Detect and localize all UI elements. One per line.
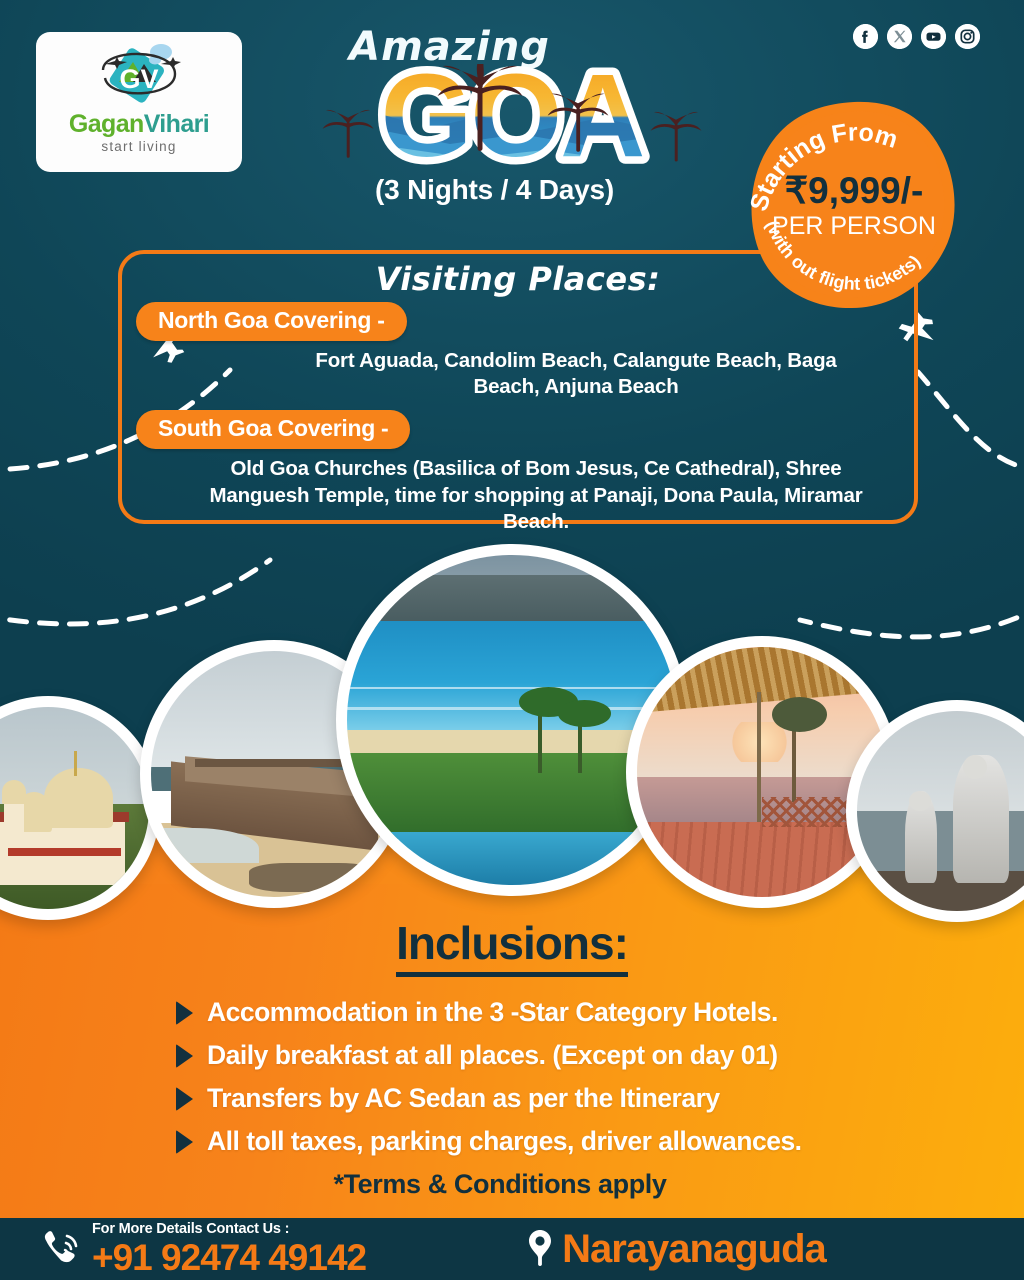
bullet-arrow-icon: [176, 1087, 193, 1111]
inclusion-text: Transfers by AC Sedan as per the Itinera…: [207, 1083, 720, 1114]
logo-word-vihari: Vihari: [144, 110, 209, 138]
contact-block[interactable]: For More Details Contact Us : +91 92474 …: [0, 1222, 366, 1276]
list-item: Accommodation in the 3 -Star Category Ho…: [176, 997, 1024, 1028]
north-goa-places: Fort Aguada, Candolim Beach, Calangute B…: [122, 341, 914, 400]
photo-mangueshi-temple: [0, 696, 160, 920]
north-goa-label: North Goa Covering -: [136, 302, 407, 341]
inclusions-section: Inclusions: Accommodation in the 3 -Star…: [0, 916, 1024, 1200]
company-logo[interactable]: GV GaganVihari start living: [36, 32, 242, 172]
inclusion-text: Accommodation in the 3 -Star Category Ho…: [207, 997, 778, 1028]
south-goa-row: South Goa Covering -: [122, 410, 914, 449]
south-goa-places: Old Goa Churches (Basilica of Bom Jesus,…: [122, 449, 914, 535]
contact-footer: For More Details Contact Us : +91 92474 …: [0, 1218, 1024, 1280]
logo-word-gagan: Gagan: [69, 110, 144, 138]
flight-path-right-top: [918, 372, 1024, 470]
inclusions-title: Inclusions:: [396, 916, 628, 977]
poster-canvas: GV GaganVihari start living Amazing: [0, 0, 1024, 1280]
location-name: Narayanaguda: [562, 1227, 826, 1272]
bullet-arrow-icon: [176, 1044, 193, 1068]
photo-gallery: [0, 536, 1024, 916]
logo-tagline: start living: [101, 139, 176, 154]
inclusions-list: Accommodation in the 3 -Star Category Ho…: [0, 997, 1024, 1157]
list-item: Daily breakfast at all places. (Except o…: [176, 1040, 1024, 1071]
youtube-icon[interactable]: [921, 24, 946, 49]
instagram-icon[interactable]: [955, 24, 980, 49]
contact-phone-number[interactable]: +91 92474 49142: [92, 1239, 366, 1276]
x-twitter-icon[interactable]: [887, 24, 912, 49]
facebook-icon[interactable]: [853, 24, 878, 49]
photo-statues: [846, 700, 1024, 922]
price-unit: PER PERSON: [772, 212, 936, 240]
list-item: Transfers by AC Sedan as per the Itinera…: [176, 1083, 1024, 1114]
phone-icon: [40, 1226, 82, 1272]
social-links: [853, 24, 980, 49]
contact-texts: For More Details Contact Us : +91 92474 …: [92, 1222, 366, 1276]
bullet-arrow-icon: [176, 1130, 193, 1154]
south-goa-label: South Goa Covering -: [136, 410, 410, 449]
inclusion-text: All toll taxes, parking charges, driver …: [207, 1126, 802, 1157]
price-amount: ₹9,999/-: [785, 170, 924, 211]
logo-wordmark: GaganVihari: [69, 112, 209, 137]
terms-and-conditions: *Terms & Conditions apply: [0, 1169, 1024, 1200]
inclusion-text: Daily breakfast at all places. (Except o…: [207, 1040, 778, 1071]
list-item: All toll taxes, parking charges, driver …: [176, 1126, 1024, 1157]
location-pin-icon: [526, 1229, 554, 1269]
bullet-arrow-icon: [176, 1001, 193, 1025]
price-badge[interactable]: Starting From ₹9,999/- PER PERSON (with …: [746, 98, 962, 314]
logo-mark-icon: GV: [89, 38, 189, 114]
location-block[interactable]: Narayanaguda: [526, 1227, 826, 1272]
svg-text:GV: GV: [119, 64, 158, 94]
contact-label: For More Details Contact Us :: [92, 1222, 366, 1237]
